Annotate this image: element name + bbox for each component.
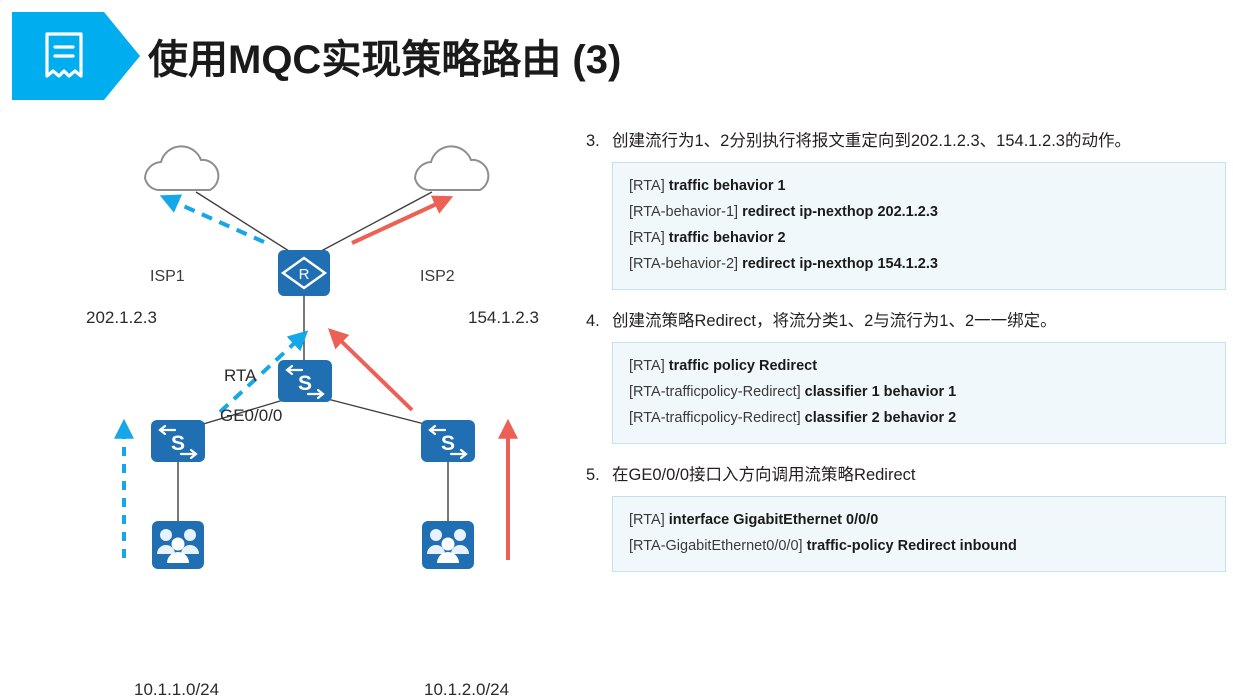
command-prompt: [RTA]: [629, 512, 665, 528]
slide-header: 使用MQC实现策略路由 (3): [0, 0, 1233, 110]
user-group-right-icon: [422, 521, 474, 569]
cloud-isp2: [415, 146, 488, 190]
step-description: 创建流行为1、2分别执行将报文重定向到202.1.2.3、154.1.2.3的动…: [612, 128, 1226, 154]
command-line: [RTA-GigabitEthernet0/0/0] traffic-polic…: [629, 533, 1209, 559]
step-description: 在GE0/0/0接口入方向调用流策略Redirect: [612, 462, 1226, 488]
command-box: [RTA] interface GigabitEthernet 0/0/0 [R…: [612, 496, 1226, 572]
command-box: [RTA] traffic policy Redirect [RTA-traff…: [612, 342, 1226, 444]
command-text: traffic behavior 2: [669, 230, 786, 246]
cloud-isp1: [145, 146, 218, 190]
command-box: [RTA] traffic behavior 1 [RTA-behavior-1…: [612, 162, 1226, 290]
step-item: 5. 在GE0/0/0接口入方向调用流策略Redirect: [586, 462, 1226, 488]
command-line: [RTA-behavior-1] redirect ip-nexthop 202…: [629, 199, 1209, 225]
step-number: 4.: [586, 308, 612, 334]
step-description: 创建流策略Redirect，将流分类1、2与流行为1、2一一绑定。: [612, 308, 1226, 334]
flow-arrow-cyan-upper: [170, 200, 264, 242]
command-text: classifier 2 behavior 2: [805, 410, 957, 426]
command-text: traffic-policy Redirect inbound: [807, 538, 1017, 554]
step-item: 4. 创建流策略Redirect，将流分类1、2与流行为1、2一一绑定。: [586, 308, 1226, 334]
command-prompt: [RTA-trafficpolicy-Redirect]: [629, 410, 801, 426]
switch-core-icon: S: [278, 360, 332, 402]
label-subnet-right: 10.1.2.0/24: [424, 680, 509, 700]
label-interface-ge000: GE0/0/0: [220, 406, 282, 426]
command-text: traffic policy Redirect: [669, 358, 817, 374]
label-router-rta: RTA: [224, 366, 256, 386]
configuration-steps-panel: 3. 创建流行为1、2分别执行将报文重定向到202.1.2.3、154.1.2.…: [586, 128, 1226, 633]
command-prompt: [RTA]: [629, 230, 665, 246]
command-text: traffic behavior 1: [669, 178, 786, 194]
switch-right-icon: S: [421, 420, 475, 462]
label-subnet-left: 10.1.1.0/24: [134, 680, 219, 700]
command-line: [RTA] traffic policy Redirect: [629, 353, 1209, 379]
command-line: [RTA] traffic behavior 1: [629, 173, 1209, 199]
label-isp1-ip: 202.1.2.3: [86, 308, 157, 328]
command-line: [RTA] interface GigabitEthernet 0/0/0: [629, 507, 1209, 533]
document-receipt-icon: [40, 30, 88, 82]
command-prompt: [RTA-GigabitEthernet0/0/0]: [629, 538, 803, 554]
step-number: 3.: [586, 128, 612, 154]
topology-links: [178, 192, 448, 522]
step-item: 3. 创建流行为1、2分别执行将报文重定向到202.1.2.3、154.1.2.…: [586, 128, 1226, 154]
command-text: redirect ip-nexthop 154.1.2.3: [742, 256, 938, 272]
command-prompt: [RTA-behavior-1]: [629, 204, 738, 220]
cloud-label-isp2: ISP2: [420, 268, 455, 286]
svg-text:R: R: [299, 266, 310, 283]
step-number: 5.: [586, 462, 612, 488]
switch-left-icon: S: [151, 420, 205, 462]
page-title: 使用MQC实现策略路由 (3): [148, 16, 1148, 96]
command-prompt: [RTA]: [629, 178, 665, 194]
router-rta-icon: R: [278, 250, 330, 296]
command-line: [RTA-trafficpolicy-Redirect] classifier …: [629, 405, 1209, 431]
command-prompt: [RTA-behavior-2]: [629, 256, 738, 272]
command-prompt: [RTA]: [629, 358, 665, 374]
label-isp2-ip: 154.1.2.3: [468, 308, 539, 328]
network-topology-diagram: R S S S: [0, 110, 580, 639]
command-text: interface GigabitEthernet 0/0/0: [669, 512, 879, 528]
svg-text:S: S: [441, 432, 455, 455]
flow-arrow-red-lower: [336, 336, 412, 410]
svg-text:S: S: [298, 372, 312, 395]
command-prompt: [RTA-trafficpolicy-Redirect]: [629, 384, 801, 400]
command-line: [RTA-trafficpolicy-Redirect] classifier …: [629, 379, 1209, 405]
topology-canvas: R S S S: [0, 110, 580, 639]
command-line: [RTA] traffic behavior 2: [629, 225, 1209, 251]
command-text: redirect ip-nexthop 202.1.2.3: [742, 204, 938, 220]
user-group-left-icon: [152, 521, 204, 569]
command-line: [RTA-behavior-2] redirect ip-nexthop 154…: [629, 251, 1209, 277]
command-text: classifier 1 behavior 1: [805, 384, 957, 400]
flow-arrow-red-upper: [352, 201, 443, 243]
svg-text:S: S: [171, 432, 185, 455]
cloud-label-isp1: ISP1: [150, 268, 185, 286]
